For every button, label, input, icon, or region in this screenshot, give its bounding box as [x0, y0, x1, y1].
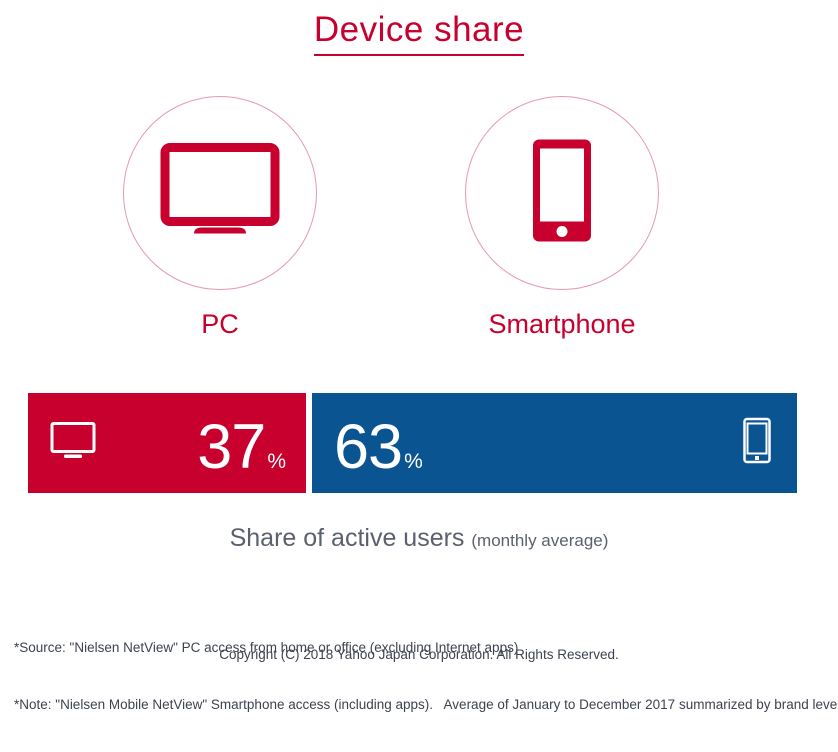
device-share-infographic: Device share PC: [0, 0, 838, 668]
smartphone-icon: [743, 418, 771, 469]
device-label-pc: PC: [90, 308, 350, 340]
device-card-smartphone: Smartphone: [432, 96, 692, 340]
monitor-icon: [50, 422, 96, 465]
device-icons-row: PC Smartphone: [0, 96, 838, 356]
footnote-note: *Note: "Nielsen Mobile NetView" Smartpho…: [14, 695, 826, 714]
bar-segment-smartphone: 63%: [312, 393, 797, 493]
device-label-smartphone: Smartphone: [432, 308, 692, 340]
bar-percent-smartphone: %: [404, 450, 423, 473]
bar-value-pc: 37%: [197, 416, 286, 479]
device-circle-smartphone: [465, 96, 659, 290]
bar-number-pc: 37: [197, 412, 265, 482]
bar-number-smartphone: 63: [334, 412, 402, 482]
bar-percent-pc: %: [267, 450, 286, 473]
device-card-pc: PC: [90, 96, 350, 340]
device-circle-pc: [123, 96, 317, 290]
bar-segment-pc: 37%: [28, 393, 306, 493]
page-title: Device share: [314, 10, 524, 56]
caption-main-text: Share of active users: [230, 524, 472, 552]
footnotes: *Source: "Nielsen NetView" PC access fro…: [14, 600, 826, 752]
monitor-icon: [160, 143, 280, 244]
title-container: Device share: [0, 10, 838, 56]
chart-caption: Share of active users (monthly average): [0, 521, 838, 559]
copyright-text: Copyright (C) 2018 Yahoo Japan Corporati…: [0, 645, 838, 664]
share-bar-chart: 37% 63%: [28, 393, 797, 493]
smartphone-icon: [532, 139, 592, 248]
bar-value-smartphone: 63%: [334, 416, 423, 479]
caption-sub-text: (monthly average): [471, 531, 608, 550]
